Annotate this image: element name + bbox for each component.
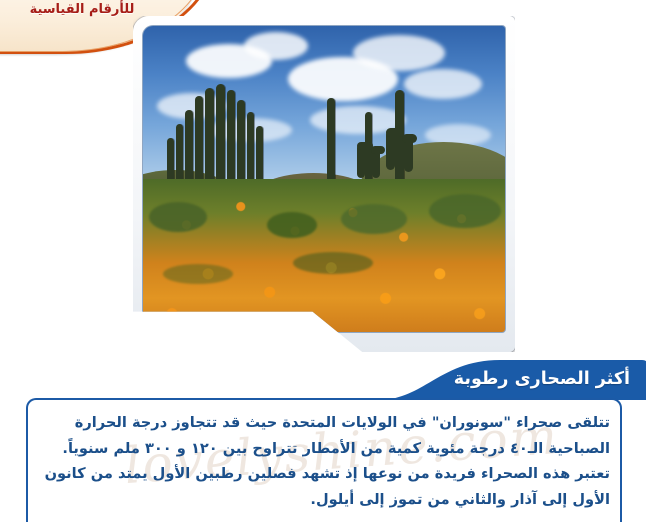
article-body: lovelyshine.com تتلقى صحراء "سونوران" في…	[26, 398, 622, 522]
cloud-shape	[353, 35, 445, 71]
scrub-bush	[293, 252, 373, 274]
article-paragraph: تعتبر هذه الصحراء فريدة من نوعها إذ تشهد…	[38, 461, 610, 512]
section-heading-banner: أكثر الصحارى رطوبة	[378, 360, 648, 400]
photo-card	[133, 16, 515, 352]
ribbon-line-2: للأرقام القياسية	[2, 1, 162, 18]
scrub-bush	[163, 264, 233, 284]
section-heading-title: أكثر الصحارى رطوبة	[454, 365, 630, 393]
cactus-arm	[402, 134, 417, 143]
page-root: موسوعة غينس للأرقام القياسية	[0, 0, 648, 526]
scrub-bush	[267, 212, 317, 238]
sonoran-desert-photo	[143, 26, 505, 332]
article-paragraphs: تتلقى صحراء "سونوران" في الولايات المتحد…	[38, 410, 610, 512]
cloud-shape	[404, 69, 482, 99]
article-paragraph: تتلقى صحراء "سونوران" في الولايات المتحد…	[38, 410, 610, 461]
ribbon-text: موسوعة غينس للأرقام القياسية	[2, 0, 162, 18]
scrub-bush	[149, 202, 207, 232]
cactus-arm	[386, 128, 403, 137]
scrub-bush	[341, 204, 407, 234]
cactus-arm	[371, 146, 385, 154]
scrub-bush	[429, 194, 501, 228]
